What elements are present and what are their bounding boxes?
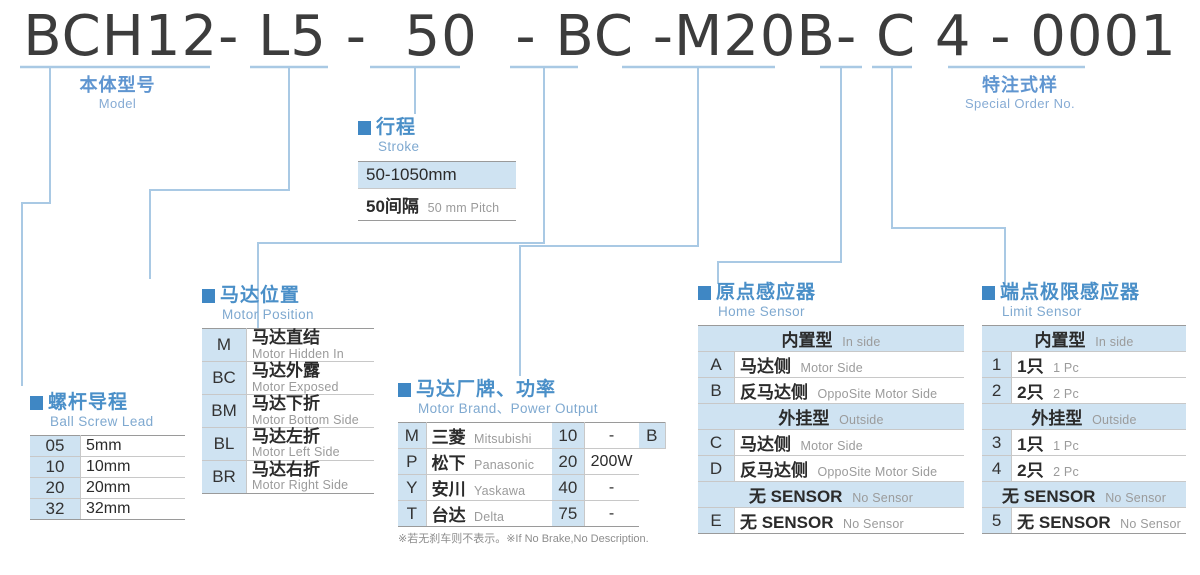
limit-sensor-group-header: 内置型 In side <box>982 326 1186 352</box>
value-zh: 反马达侧 <box>740 383 808 402</box>
value-zh: 反马达侧 <box>740 461 808 480</box>
table-row: B 反马达侧 OppoSite Motor Side <box>698 378 964 404</box>
square-bullet-icon <box>398 383 411 397</box>
stroke-range-cell: 50-1050mm <box>358 161 516 189</box>
home-sensor-value: 反马达侧 OppoSite Motor Side <box>735 456 965 482</box>
group-en: No Sensor <box>1105 491 1166 505</box>
lead-value: 5mm <box>81 436 186 457</box>
brand-name: 安川 Yaskawa <box>426 475 552 501</box>
motor-position-en: Motor Hidden In <box>252 348 369 362</box>
square-bullet-icon <box>982 286 995 300</box>
limit-sensor-group-header: 无 SENSOR No Sensor <box>982 482 1186 508</box>
value-zh: 马达侧 <box>740 435 791 454</box>
motor-brand-footnote: ※若无刹车则不表示。※If No Brake,No Description. <box>398 530 666 546</box>
table-row: T 台达 Delta 75 - <box>398 501 666 527</box>
limit-sensor-table: 内置型 In side 1 1只 1 Pc 2 2只 2 Pc <box>982 325 1186 534</box>
motor-position-zh: 马达外露 <box>252 362 369 380</box>
table-row: 1 1只 1 Pc <box>982 352 1186 378</box>
limit-sensor-value: 无 SENSOR No Sensor <box>1012 508 1186 534</box>
value-en: OppoSite Motor Side <box>817 387 937 401</box>
callout-model-en: Model <box>30 96 205 111</box>
value-en: Motor Side <box>800 361 862 375</box>
group-en: Outside <box>1092 413 1136 427</box>
callout-limit-sensor-title: 端点极限感应器 Limit Sensor <box>982 283 1186 318</box>
brand-en: Panasonic <box>474 458 534 472</box>
table-row: Y 安川 Yaskawa 40 - <box>398 475 666 501</box>
table-row: 32 32mm <box>30 499 185 520</box>
motor-position-key: BR <box>202 460 247 493</box>
callout-motor-position-title: 马达位置 Motor Position <box>202 286 374 321</box>
value-en: 1 Pc <box>1053 361 1079 375</box>
square-bullet-icon <box>698 286 711 300</box>
square-bullet-icon <box>358 121 371 135</box>
brake-key: B <box>639 423 666 449</box>
motor-position-table: M 马达直结 Motor Hidden In BC 马达外露 Motor Exp… <box>202 328 374 493</box>
model-code-breakdown-diagram: BCH12- L5 - 50 - BC -M20B- C 4 - 0001 <box>0 0 1200 575</box>
callout-stroke-en: Stroke <box>378 140 419 154</box>
table-row: BM 马达下折 Motor Bottom Side <box>202 395 374 428</box>
table-row: M 三菱 Mitsubishi 10 - B <box>398 423 666 449</box>
table-row: 内置型 In side <box>698 326 964 352</box>
lead-key: 20 <box>30 478 81 499</box>
motor-position-en: Motor Right Side <box>252 479 369 493</box>
callout-limit-sensor: 端点极限感应器 Limit Sensor 内置型 In side 1 1只 1 … <box>982 283 1186 534</box>
group-en: Outside <box>839 413 883 427</box>
value-en: Motor Side <box>800 439 862 453</box>
motor-position-value: 马达左折 Motor Left Side <box>247 428 375 461</box>
power-key: 10 <box>552 423 584 449</box>
square-bullet-icon <box>202 289 215 303</box>
limit-sensor-key: 4 <box>982 456 1012 482</box>
callout-ball-screw-lead-title: 螺杆导程 Ball Screw Lead <box>30 393 185 428</box>
table-row: 4 2只 2 Pc <box>982 456 1186 482</box>
motor-position-value: 马达右折 Motor Right Side <box>247 460 375 493</box>
callout-special-order: 特注式样 Special Order No. <box>930 76 1110 111</box>
table-row: 外挂型 Outside <box>982 404 1186 430</box>
limit-sensor-key: 3 <box>982 430 1012 456</box>
group-en: In side <box>1095 335 1133 349</box>
brand-name: 松下 Panasonic <box>426 449 552 475</box>
limit-sensor-value: 1只 1 Pc <box>1012 352 1186 378</box>
stroke-pitch-cell: 50间隔 50 mm Pitch <box>358 189 516 221</box>
callout-model: 本体型号 Model <box>30 76 205 111</box>
table-row: 5 无 SENSOR No Sensor <box>982 508 1186 534</box>
callout-ball-screw-lead: 螺杆导程 Ball Screw Lead 05 5mm 10 10mm 20 2… <box>30 393 185 520</box>
value-zh: 2只 <box>1017 461 1043 480</box>
table-row: BC 马达外露 Motor Exposed <box>202 362 374 395</box>
callout-stroke: 行程 Stroke 50-1050mm 50间隔 50 mm Pitch <box>358 118 516 221</box>
lead-value: 10mm <box>81 457 186 478</box>
callout-stroke-cn: 行程 <box>376 117 416 138</box>
table-row: 2 2只 2 Pc <box>982 378 1186 404</box>
callout-model-cn: 本体型号 <box>30 76 205 95</box>
value-en: 2 Pc <box>1053 465 1079 479</box>
table-row: 05 5mm <box>30 436 185 457</box>
home-sensor-key: C <box>698 430 735 456</box>
group-zh: 无 SENSOR <box>749 487 843 506</box>
limit-sensor-value: 1只 1 Pc <box>1012 430 1186 456</box>
limit-sensor-group-header: 外挂型 Outside <box>982 404 1186 430</box>
callout-special-order-en: Special Order No. <box>930 96 1110 111</box>
home-sensor-value: 马达侧 Motor Side <box>735 430 965 456</box>
motor-position-value: 马达外露 Motor Exposed <box>247 362 375 395</box>
callout-motor-brand-cn: 马达厂牌、功率 <box>416 379 556 400</box>
power-watt: - <box>584 475 638 501</box>
value-en: No Sensor <box>843 517 904 531</box>
stroke-pitch-cn: 50间隔 <box>366 197 419 216</box>
table-row: 20 20mm <box>30 478 185 499</box>
limit-sensor-value: 2只 2 Pc <box>1012 378 1186 404</box>
stroke-pitch-en: 50 mm Pitch <box>428 201 500 215</box>
home-sensor-group-header: 无 SENSOR No Sensor <box>698 482 964 508</box>
power-key: 20 <box>552 449 584 475</box>
home-sensor-key: D <box>698 456 735 482</box>
group-en: No Sensor <box>852 491 913 505</box>
brake-empty <box>639 449 666 475</box>
square-bullet-icon <box>30 396 43 410</box>
callout-stroke-title: 行程 Stroke <box>358 118 516 153</box>
brake-empty <box>639 501 666 527</box>
lead-key: 32 <box>30 499 81 520</box>
power-watt: - <box>584 423 638 449</box>
power-watt: 200W <box>584 449 638 475</box>
group-zh: 内置型 <box>1035 331 1086 350</box>
power-watt: - <box>584 501 638 527</box>
table-row: 无 SENSOR No Sensor <box>698 482 964 508</box>
callout-motor-brand: 马达厂牌、功率 Motor Brand、Power Output M 三菱 Mi… <box>398 380 666 546</box>
home-sensor-value: 马达侧 Motor Side <box>735 352 965 378</box>
limit-sensor-key: 5 <box>982 508 1012 534</box>
value-en: 1 Pc <box>1053 439 1079 453</box>
motor-position-key: BL <box>202 428 247 461</box>
home-sensor-table: 内置型 In side A 马达侧 Motor Side B 反马达侧 Oppo <box>698 325 964 534</box>
brand-en: Delta <box>474 510 504 524</box>
callout-motor-brand-title: 马达厂牌、功率 Motor Brand、Power Output <box>398 380 666 415</box>
home-sensor-group-header: 外挂型 Outside <box>698 404 964 430</box>
group-zh: 外挂型 <box>778 409 829 428</box>
value-en: No Sensor <box>1120 517 1181 531</box>
limit-sensor-key: 2 <box>982 378 1012 404</box>
brand-name: 台达 Delta <box>426 501 552 527</box>
callout-home-sensor: 原点感应器 Home Sensor 内置型 In side A 马达侧 Moto… <box>698 283 964 534</box>
callout-limit-sensor-en: Limit Sensor <box>1002 305 1140 319</box>
group-en: In side <box>842 335 880 349</box>
brand-zh: 三菱 <box>432 428 466 447</box>
table-row: A 马达侧 Motor Side <box>698 352 964 378</box>
callout-motor-position: 马达位置 Motor Position M 马达直结 Motor Hidden … <box>202 286 374 494</box>
group-zh: 外挂型 <box>1031 409 1082 428</box>
callout-motor-brand-en: Motor Brand、Power Output <box>418 402 598 416</box>
brand-en: Yaskawa <box>474 484 525 498</box>
table-row: BR 马达右折 Motor Right Side <box>202 460 374 493</box>
value-zh: 马达侧 <box>740 357 791 376</box>
table-row: 无 SENSOR No Sensor <box>982 482 1186 508</box>
table-row: 3 1只 1 Pc <box>982 430 1186 456</box>
power-key: 40 <box>552 475 584 501</box>
callout-limit-sensor-cn: 端点极限感应器 <box>1000 282 1140 303</box>
callout-motor-position-cn: 马达位置 <box>220 285 300 306</box>
home-sensor-value: 无 SENSOR No Sensor <box>735 508 965 534</box>
brand-key: M <box>398 423 426 449</box>
callout-motor-position-en: Motor Position <box>222 308 314 322</box>
lead-value: 20mm <box>81 478 186 499</box>
motor-position-key: BC <box>202 362 247 395</box>
brand-key: T <box>398 501 426 527</box>
home-sensor-key: A <box>698 352 735 378</box>
brake-empty <box>639 475 666 501</box>
brand-en: Mitsubishi <box>474 432 532 446</box>
callout-home-sensor-cn: 原点感应器 <box>716 282 816 303</box>
limit-sensor-value: 2只 2 Pc <box>1012 456 1186 482</box>
value-zh: 2只 <box>1017 383 1043 402</box>
ball-screw-lead-table: 05 5mm 10 10mm 20 20mm 32 32mm <box>30 435 185 520</box>
table-row: D 反马达侧 OppoSite Motor Side <box>698 456 964 482</box>
lead-key: 10 <box>30 457 81 478</box>
callout-home-sensor-title: 原点感应器 Home Sensor <box>698 283 964 318</box>
value-zh: 1只 <box>1017 357 1043 376</box>
group-zh: 内置型 <box>782 331 833 350</box>
motor-brand-table: M 三菱 Mitsubishi 10 - B P 松下 Panasonic 20 <box>398 422 666 527</box>
brand-name: 三菱 Mitsubishi <box>426 423 552 449</box>
home-sensor-key: B <box>698 378 735 404</box>
lead-value: 32mm <box>81 499 186 520</box>
callout-ball-screw-lead-cn: 螺杆导程 <box>48 392 128 413</box>
motor-position-en: Motor Bottom Side <box>252 414 369 428</box>
brand-zh: 安川 <box>432 480 466 499</box>
table-row: P 松下 Panasonic 20 200W <box>398 449 666 475</box>
home-sensor-value: 反马达侧 OppoSite Motor Side <box>735 378 965 404</box>
table-row: 10 10mm <box>30 457 185 478</box>
motor-position-value: 马达直结 Motor Hidden In <box>247 329 375 362</box>
value-zh: 无 SENSOR <box>1017 513 1111 532</box>
brand-key: P <box>398 449 426 475</box>
value-en: OppoSite Motor Side <box>817 465 937 479</box>
table-row: M 马达直结 Motor Hidden In <box>202 329 374 362</box>
value-zh: 1只 <box>1017 435 1043 454</box>
value-zh: 无 SENSOR <box>740 513 834 532</box>
table-row: C 马达侧 Motor Side <box>698 430 964 456</box>
brand-zh: 松下 <box>432 454 466 473</box>
value-en: 2 Pc <box>1053 387 1079 401</box>
stroke-table: 50-1050mm 50间隔 50 mm Pitch <box>358 161 516 221</box>
motor-position-en: Motor Left Side <box>252 446 369 460</box>
motor-position-zh: 马达右折 <box>252 461 369 479</box>
callout-ball-screw-lead-en: Ball Screw Lead <box>50 415 154 429</box>
table-row: E 无 SENSOR No Sensor <box>698 508 964 534</box>
table-row: 内置型 In side <box>982 326 1186 352</box>
motor-position-en: Motor Exposed <box>252 381 369 395</box>
callout-special-order-cn: 特注式样 <box>930 76 1110 95</box>
motor-position-zh: 马达直结 <box>252 329 369 347</box>
table-row: 外挂型 Outside <box>698 404 964 430</box>
motor-position-zh: 马达左折 <box>252 428 369 446</box>
brand-zh: 台达 <box>432 506 466 525</box>
motor-position-zh: 马达下折 <box>252 395 369 413</box>
home-sensor-group-header: 内置型 In side <box>698 326 964 352</box>
model-code: BCH12- L5 - 50 - BC -M20B- C 4 - 0001 <box>0 4 1200 69</box>
limit-sensor-key: 1 <box>982 352 1012 378</box>
group-zh: 无 SENSOR <box>1002 487 1096 506</box>
motor-position-key: M <box>202 329 247 362</box>
power-key: 75 <box>552 501 584 527</box>
home-sensor-key: E <box>698 508 735 534</box>
brand-key: Y <box>398 475 426 501</box>
lead-key: 05 <box>30 436 81 457</box>
table-row: BL 马达左折 Motor Left Side <box>202 428 374 461</box>
motor-position-key: BM <box>202 395 247 428</box>
callout-home-sensor-en: Home Sensor <box>718 305 816 319</box>
motor-position-value: 马达下折 Motor Bottom Side <box>247 395 375 428</box>
